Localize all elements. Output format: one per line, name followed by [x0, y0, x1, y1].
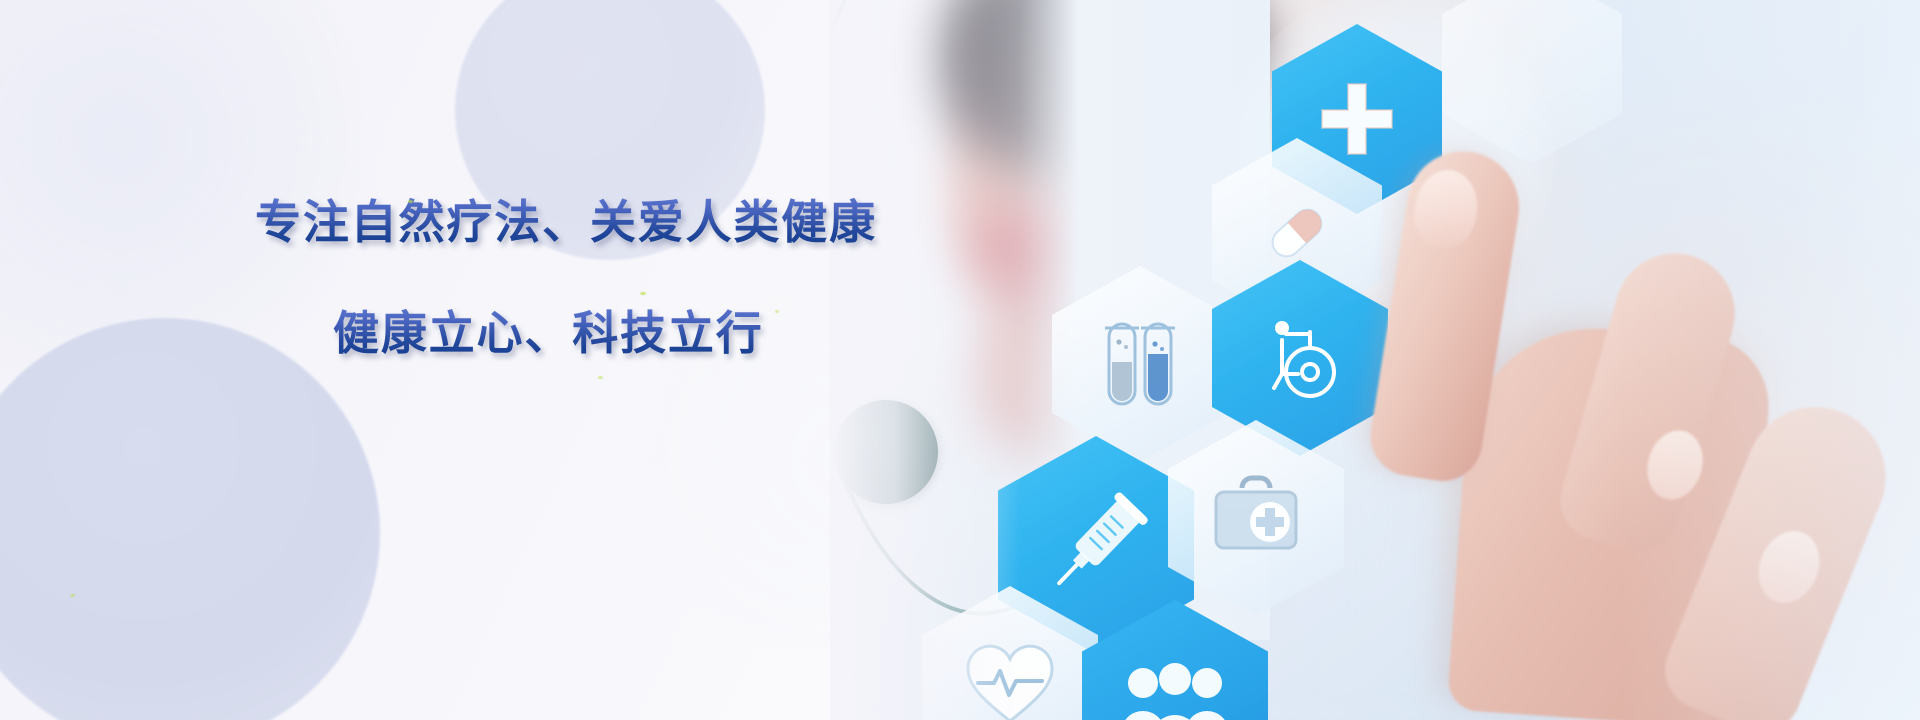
people-group-icon — [1119, 663, 1231, 720]
sparkle-speck — [640, 292, 646, 295]
sparkle-speck — [598, 376, 603, 379]
medical-bag-icon — [1206, 472, 1306, 564]
hero-photo — [830, 0, 1920, 720]
headline-line-1: 专注自然疗法、关爱人类健康 — [255, 186, 877, 252]
hero-banner: 专注自然疗法、关爱人类健康 健康立心、科技立行 — [0, 0, 1920, 720]
wheelchair-icon — [1252, 310, 1348, 406]
syringe-icon — [1037, 486, 1155, 604]
test-tubes-icon — [1093, 314, 1187, 414]
bottom-left-soft-circle — [0, 318, 380, 720]
right-edge-haze — [1620, 0, 1920, 720]
headline-line-2: 健康立心、科技立行 — [333, 297, 764, 363]
photo-left-feather — [830, 0, 1020, 720]
